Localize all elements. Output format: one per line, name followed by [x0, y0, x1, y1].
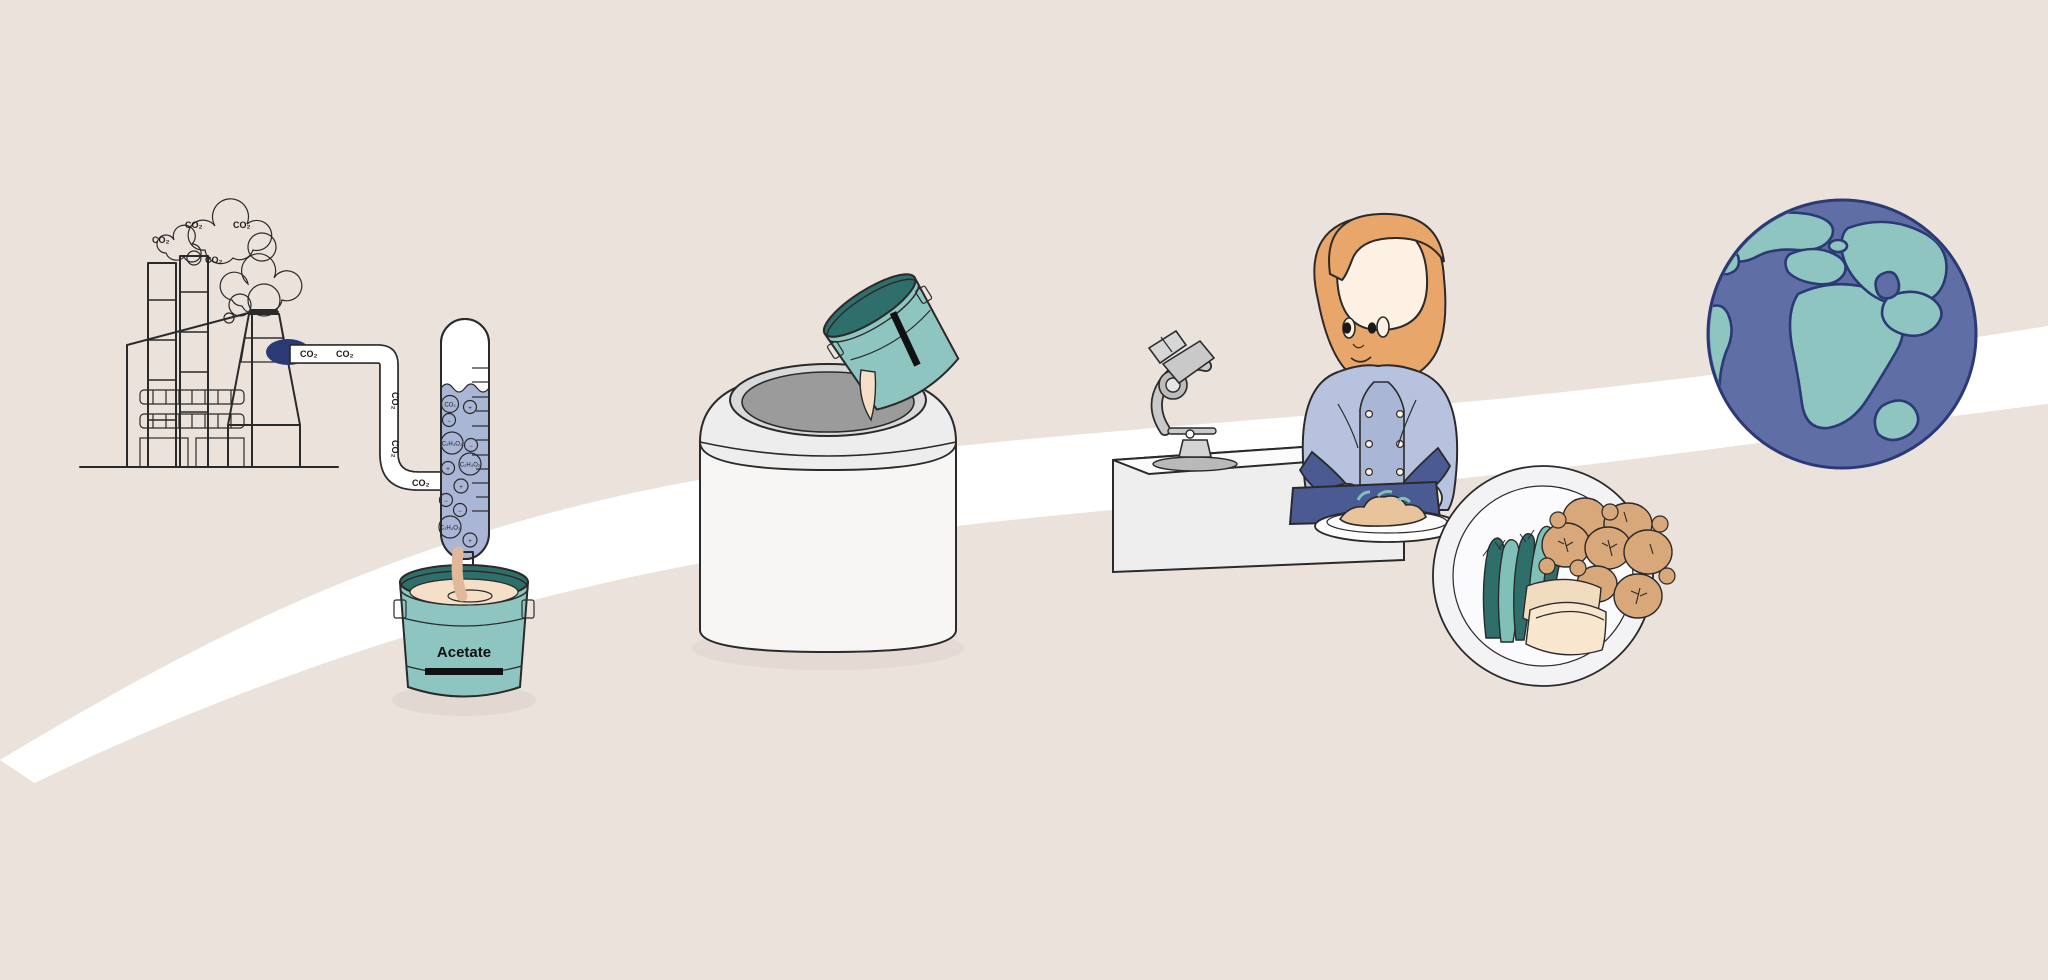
factory-building — [127, 312, 252, 467]
scene-globe — [1681, 200, 1976, 468]
ion-positive-label: + — [446, 467, 450, 473]
mushroom-stem — [1659, 568, 1675, 584]
bucket-label: Acetate — [437, 644, 491, 661]
scene-chef — [1113, 214, 1459, 572]
cooling-tower — [228, 310, 310, 467]
factory-door-right — [196, 438, 244, 467]
ion-negative-label: − — [469, 444, 473, 450]
chef-eye-right — [1368, 322, 1376, 333]
continent-iceland — [1829, 240, 1847, 252]
smoke-clouds: CO₂ CO₂ CO₂ CO₂ — [152, 199, 302, 323]
scene-fermentation — [692, 262, 971, 670]
microscope-stand — [1179, 440, 1211, 457]
mushroom-stem — [1539, 558, 1555, 574]
molecule-acetate-label: C₂H₄O₂ — [442, 442, 463, 448]
food-plate — [1433, 466, 1675, 686]
ion-negative-label: − — [447, 419, 451, 425]
ocean-inlet — [1876, 272, 1899, 298]
molecule-acetate-label: C₂H₄O₂ — [440, 526, 461, 532]
ion-negative-label: − — [444, 499, 448, 505]
chef-button — [1397, 441, 1404, 448]
acetate-bucket: Acetate — [392, 552, 536, 716]
co2-pipe-label: CO₂ — [336, 349, 354, 359]
scene-factory: CO₂ CO₂ CO₂ CO₂ CO₂ CO₂ CO₂ CO₂ CO₂ — [80, 199, 536, 716]
infographic-canvas: .ln{stroke:#2a2a2a;stroke-width:2;fill:n… — [0, 0, 2048, 980]
cooling-tower-base — [228, 425, 300, 467]
factory-window-mullions — [153, 390, 231, 428]
molecule-co2-label: CO₂ — [444, 403, 456, 409]
ion-positive-label: + — [468, 539, 472, 545]
co2-pipe-label: CO₂ — [390, 392, 400, 410]
co2-pipe-label: CO₂ — [390, 440, 400, 458]
chef-button — [1397, 411, 1404, 418]
co2-emission-label: CO₂ — [233, 220, 251, 230]
mushroom-stem — [1652, 516, 1668, 532]
bread-slice-front — [1526, 602, 1606, 654]
chef-button — [1366, 441, 1373, 448]
pipe-body — [290, 345, 452, 490]
microscope-base — [1153, 457, 1237, 471]
co2-pipe-label: CO₂ — [300, 349, 318, 359]
bread-group — [1523, 579, 1606, 654]
pipe-outer-lower — [290, 363, 452, 490]
cooling-tower-upper — [245, 314, 283, 338]
co2-pipe-label: CO₂ — [412, 478, 430, 488]
continent-north-america-tip — [1706, 248, 1739, 274]
co2-emission-label: CO₂ — [205, 255, 223, 265]
mushroom-cap — [1624, 530, 1672, 574]
ion-positive-label: + — [459, 485, 463, 491]
cooling-tower-body — [228, 314, 300, 425]
co2-emission-label: CO₂ — [185, 220, 203, 230]
chef-button — [1366, 411, 1373, 418]
ion-negative-label: − — [458, 509, 462, 515]
chef-eye-left — [1343, 322, 1351, 333]
globe-continents — [1681, 213, 1946, 441]
chef-jacket-placket — [1360, 382, 1404, 494]
molecule-acetate-label: C₂H₄O₂ — [460, 463, 481, 469]
mushroom-stem — [1602, 504, 1618, 520]
mushroom-stem — [1550, 512, 1566, 528]
illustration-layer: .ln{stroke:#2a2a2a;stroke-width:2;fill:n… — [0, 0, 2048, 980]
co2-emission-label: CO₂ — [152, 235, 170, 245]
pipe-outer-upper — [290, 345, 452, 472]
smokestack-left-body — [148, 263, 176, 467]
ion-positive-label: + — [468, 406, 472, 412]
chef-ear-right — [1377, 317, 1389, 337]
co2-pipe: CO₂ CO₂ CO₂ CO₂ CO₂ — [290, 345, 452, 490]
chef — [1290, 214, 1457, 536]
microscope-stage-knob — [1186, 430, 1194, 438]
electrolyzer-column: CO₂ − + C₂H₄O₂ − + C₂H₄O₂ + — [439, 319, 489, 598]
pour-stream — [457, 552, 462, 596]
continent-madagascar — [1875, 400, 1918, 440]
smokestack-right — [180, 256, 208, 467]
mushroom-stem — [1570, 560, 1586, 576]
smokestack-right-body — [180, 256, 208, 467]
smokestack-left — [148, 263, 176, 467]
bucket-black-stripe — [425, 668, 503, 675]
chef-button — [1397, 469, 1404, 476]
chef-button — [1366, 469, 1373, 476]
microscope — [1149, 331, 1237, 471]
tank-body — [700, 442, 956, 652]
